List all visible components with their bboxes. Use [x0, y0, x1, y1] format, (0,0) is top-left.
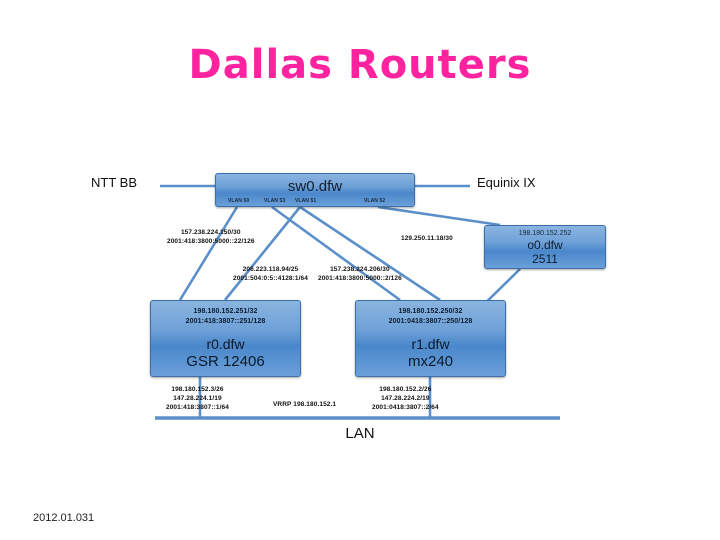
r0-ipv6: 2001:418:3807::251/128 [151, 317, 300, 327]
annotation-vrrp: VRRP 198.180.152.1 [273, 400, 336, 409]
annotation-lan-right: 198.180.152.2/26 147.28.224.2/19 2001:04… [372, 385, 439, 412]
vlan-label-50: VLAN 50 [228, 198, 249, 204]
annotation-equinix-uplink-ipv6: 2001:418:3800:5000::2/126 [318, 274, 402, 283]
annotation-ix-peer-ipv6: 2001:504:0:5::4128:1/64 [233, 274, 308, 283]
annotation-lan-left-ipv4-1: 198.180.152.3/26 [166, 385, 229, 394]
link-vlan52-o0 [378, 207, 500, 225]
annotation-equinix-uplink: 157.238.224.206/30 2001:418:3800:5000::2… [318, 265, 402, 283]
switch-name: sw0.dfw [216, 174, 414, 198]
link-vlan53-r1 [272, 207, 400, 300]
r1-name: r1.dfw [356, 335, 505, 353]
r0-ipv4: 198.180.152.251/32 [151, 307, 300, 317]
label-lan: LAN [0, 425, 720, 442]
o0-name: o0.dfw [485, 238, 605, 252]
r1-ipv4: 198.180.152.250/32 [356, 307, 505, 317]
annotation-lan-left-ipv6: 2001:418:3807::1/64 [166, 403, 229, 412]
label-equinix-ix: Equinix IX [477, 175, 536, 190]
annotation-ntt-uplink: 157.238.224.150/30 2001:418:3800:5000::2… [167, 228, 255, 246]
annotation-ix-peer-ipv4: 206.223.118.94/25 [233, 265, 308, 274]
annotation-lan-left: 198.180.152.3/26 147.28.224.1/19 2001:41… [166, 385, 229, 412]
annotation-ntt-transit-ipv4: 129.250.11.18/30 [401, 234, 453, 243]
node-o0-dfw[interactable]: 198.180.152.252 o0.dfw 2511 [484, 225, 606, 269]
r1-model: mx240 [356, 353, 505, 371]
vlan-label-row: VLAN 50 VLAN 53 VLAN 51 VLAN 52 [216, 198, 416, 208]
annotation-ntt-uplink-ipv4: 157.238.224.150/30 [167, 228, 255, 237]
annotation-lan-right-ipv6: 2001:0418:3807::2/64 [372, 403, 439, 412]
label-ntt-bb: NTT BB [91, 175, 137, 190]
o0-ip: 198.180.152.252 [485, 229, 605, 238]
annotation-equinix-uplink-ipv4: 157.238.224.206/30 [318, 265, 402, 274]
vlan-label-53: VLAN 53 [264, 198, 285, 204]
annotation-ntt-transit: 129.250.11.18/30 [401, 234, 453, 243]
annotation-lan-right-ipv4-1: 198.180.152.2/26 [372, 385, 439, 394]
vlan-label-51: VLAN 51 [295, 198, 316, 204]
link-vlan51-r0 [225, 207, 300, 300]
node-sw0-dfw[interactable]: sw0.dfw VLAN 50 VLAN 53 VLAN 51 VLAN 52 [215, 173, 415, 207]
r0-model: GSR 12406 [151, 353, 300, 371]
r1-ipv6: 2001:0418:3807::250/128 [356, 317, 505, 327]
annotation-ntt-uplink-ipv6: 2001:418:3800:5000::22/126 [167, 237, 255, 246]
link-vlan50-r0 [180, 207, 237, 300]
r0-name: r0.dfw [151, 335, 300, 353]
node-r0-dfw[interactable]: 198.180.152.251/32 2001:418:3807::251/12… [150, 300, 301, 377]
link-vlan51-r1 [300, 207, 440, 300]
o0-model: 2511 [485, 252, 605, 266]
slide-canvas: Dallas Routers NTT BB [0, 0, 720, 540]
node-r1-dfw[interactable]: 198.180.152.250/32 2001:0418:3807::250/1… [355, 300, 506, 377]
footer-date: 2012.01.031 [33, 512, 94, 524]
annotation-ix-peer: 206.223.118.94/25 2001:504:0:5::4128:1/6… [233, 265, 308, 283]
annotation-lan-left-ipv4-2: 147.28.224.1/19 [166, 394, 229, 403]
vlan-label-52: VLAN 52 [364, 198, 385, 204]
annotation-lan-right-ipv4-2: 147.28.224.2/19 [372, 394, 439, 403]
